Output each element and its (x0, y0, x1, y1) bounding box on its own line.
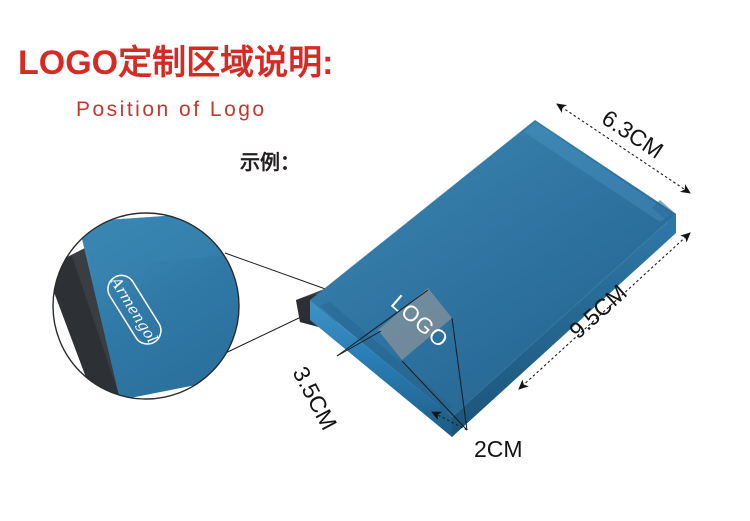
logo-detail-magnifier: Armengol (45, 210, 262, 405)
card-holder-product: LOGO (296, 120, 676, 437)
product-spec-canvas: LOGO定制区域说明: Position of Logo 示例： (0, 0, 750, 521)
dimension-label-3-5cm: 3.5CM (288, 362, 343, 434)
dimension-label-2cm: 2CM (474, 436, 523, 462)
illustration: Armengol LOGO (0, 0, 750, 521)
